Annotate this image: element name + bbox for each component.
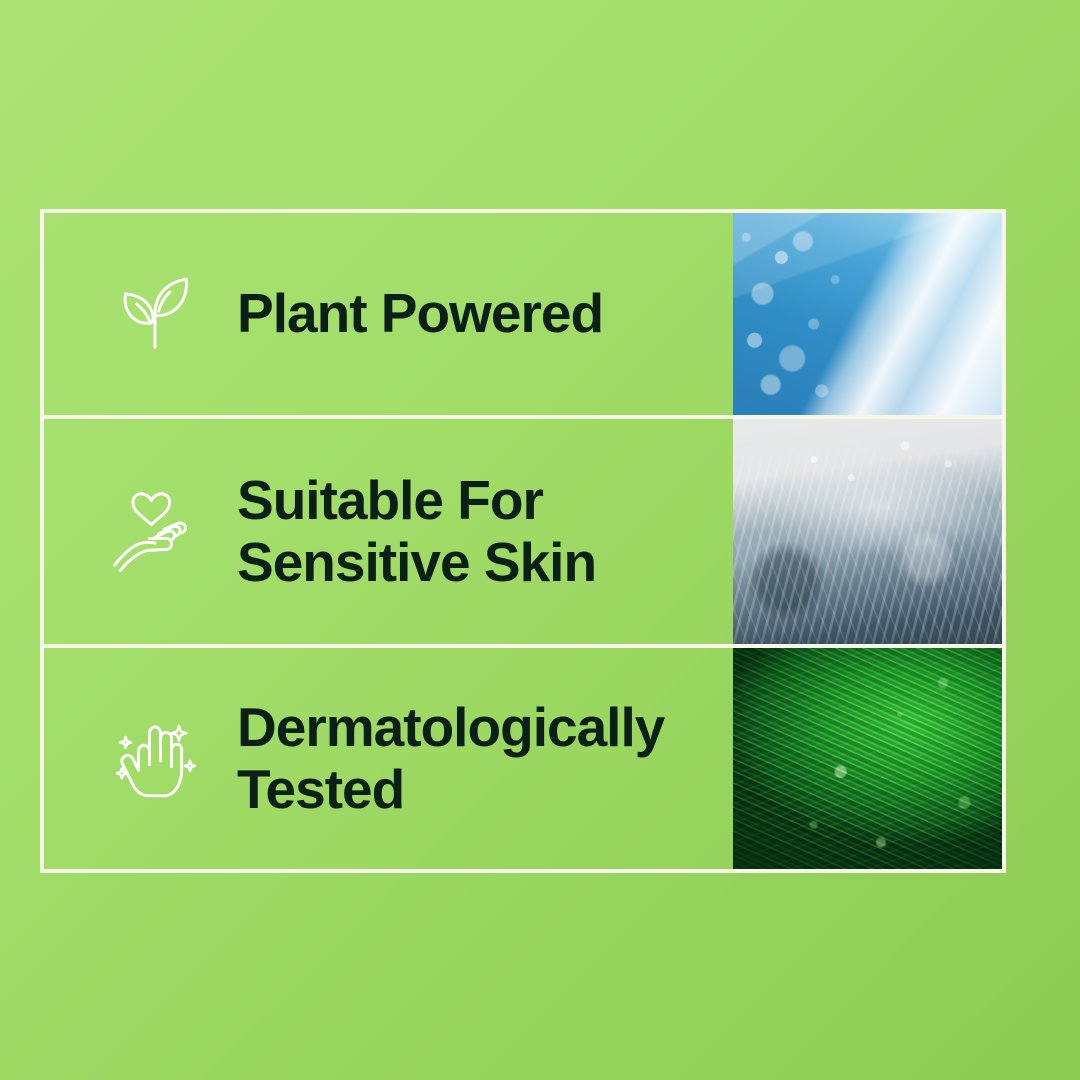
benefit-media-green-algae — [733, 648, 1002, 869]
benefits-frame: Plant Powered Suitable For Sensitive Ski… — [40, 209, 1006, 873]
benefit-label: Dermatologically Tested — [237, 697, 664, 820]
water-splash-photo — [733, 419, 1002, 644]
hand-holding-heart-icon — [109, 486, 201, 578]
benefit-content: Plant Powered — [44, 213, 733, 415]
benefit-content: Suitable For Sensitive Skin — [44, 419, 733, 644]
leaf-sprout-icon — [109, 268, 201, 360]
sparkling-hand-icon — [109, 713, 201, 805]
benefit-label: Plant Powered — [237, 283, 603, 345]
benefit-label: Suitable For Sensitive Skin — [237, 470, 596, 593]
benefit-row-plant-powered: Plant Powered — [44, 213, 1002, 419]
underwater-bubbles-photo — [733, 213, 1002, 415]
benefit-media-underwater-bubbles — [733, 213, 1002, 415]
benefit-media-water-splash — [733, 419, 1002, 644]
benefit-row-sensitive-skin: Suitable For Sensitive Skin — [44, 419, 1002, 648]
benefit-row-dermatologically-tested: Dermatologically Tested — [44, 648, 1002, 869]
benefit-content: Dermatologically Tested — [44, 648, 733, 869]
green-algae-photo — [733, 648, 1002, 869]
